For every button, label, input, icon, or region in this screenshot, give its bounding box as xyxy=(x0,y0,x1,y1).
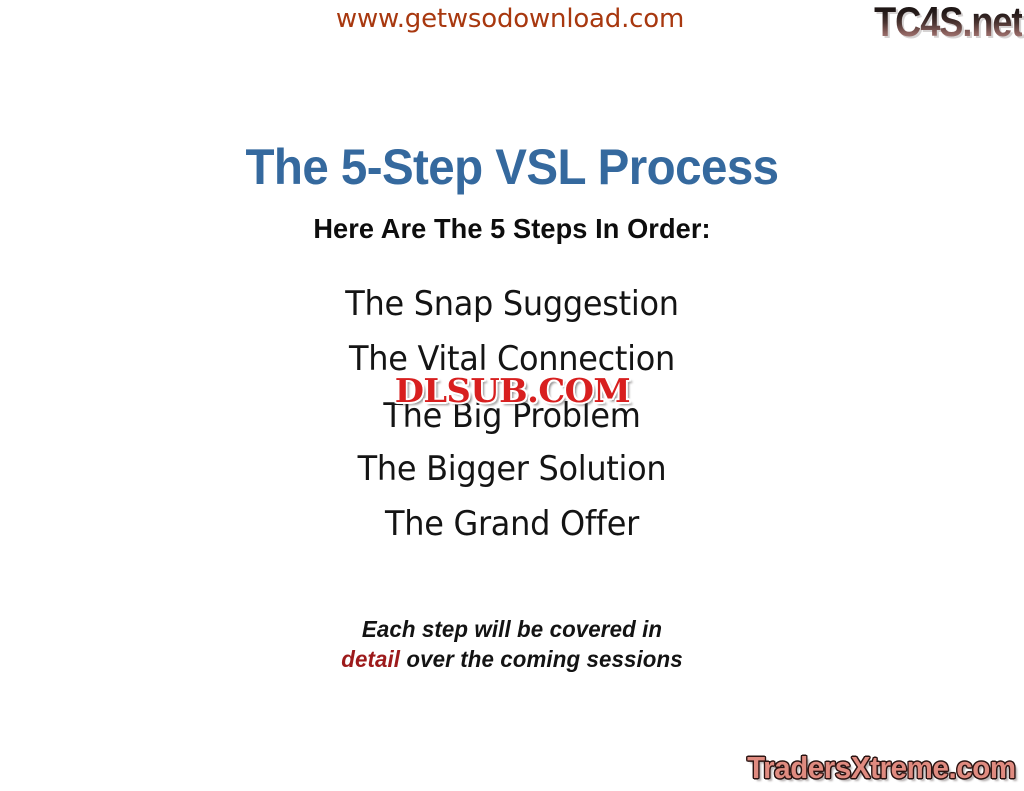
list-item: The Vital Connection xyxy=(31,342,994,376)
list-item: The Big Problem xyxy=(31,399,994,433)
footer-note-rest: over the coming sessions xyxy=(400,646,683,672)
page-title: The 5-Step VSL Process xyxy=(26,138,999,196)
footer-note: Each step will be covered in detail over… xyxy=(15,614,1008,675)
list-item: The Bigger Solution xyxy=(31,452,994,486)
steps-list: The Snap Suggestion The Vital Connection… xyxy=(0,287,1024,541)
page-subtitle: Here Are The 5 Steps In Order: xyxy=(15,213,1008,245)
footer-note-line-2: detail over the coming sessions xyxy=(15,644,1008,674)
footer-note-accent: detail xyxy=(341,646,400,672)
top-source-url: www.getwsodownload.com xyxy=(0,4,1022,34)
brand-logo-tc4s: TC4S.net xyxy=(874,1,1022,43)
list-item: The Snap Suggestion xyxy=(31,287,994,321)
slide-canvas: www.getwsodownload.com TC4S.net TC4S.net… xyxy=(0,0,1024,791)
footer-note-line-1: Each step will be covered in xyxy=(15,614,1008,644)
list-item: The Grand Offer xyxy=(31,507,994,541)
footer-logo-tradersxtreme: TradersXtreme.com xyxy=(747,752,1016,783)
